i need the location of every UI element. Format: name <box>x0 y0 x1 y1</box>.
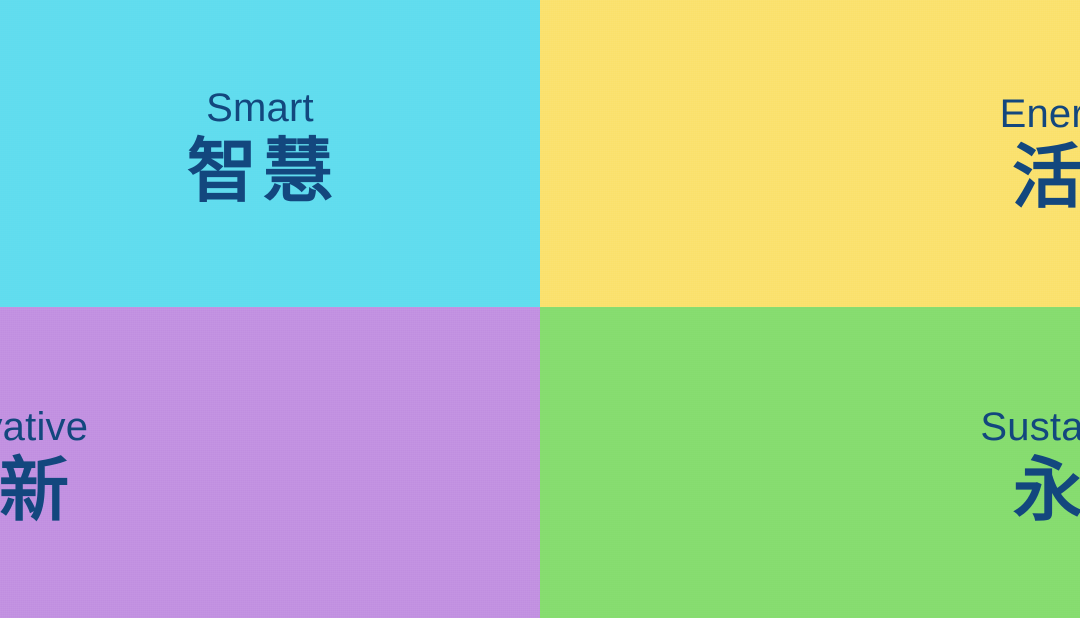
quadrant-sustainable-label-zh: 永續 <box>1007 453 1080 529</box>
quadrant-energetic-label-en: Energetic <box>1000 94 1080 134</box>
quadrant-smart-label-zh: 智慧 <box>181 134 339 210</box>
quadrant-innovative-label-en: Innovative <box>0 407 88 447</box>
quadrant-sustainable-text-block: Sustainable 永續 <box>816 407 1080 529</box>
quadrant-energetic-text-block: Energetic 活力 <box>815 94 1080 216</box>
quadrant-innovative: Innovative 創新 <box>0 307 540 618</box>
quadrant-smart-text-block: Smart 智慧 <box>0 88 530 210</box>
quadrant-energetic-label-zh: 活力 <box>1006 140 1080 216</box>
quadrant-energetic: Energetic 活力 <box>540 0 1080 307</box>
quadrant-smart: Smart 智慧 <box>0 0 540 307</box>
quadrant-smart-label-en: Smart <box>206 88 314 128</box>
quadrant-innovative-label-zh: 創新 <box>0 453 75 529</box>
brand-values-quadrant-grid: Smart 智慧 Energetic 活力 Innovative 創新 Sust… <box>0 0 1080 618</box>
quadrant-sustainable: Sustainable 永續 <box>540 307 1080 618</box>
quadrant-innovative-text-block: Innovative 創新 <box>0 407 266 529</box>
quadrant-sustainable-label-en: Sustainable <box>980 407 1080 447</box>
